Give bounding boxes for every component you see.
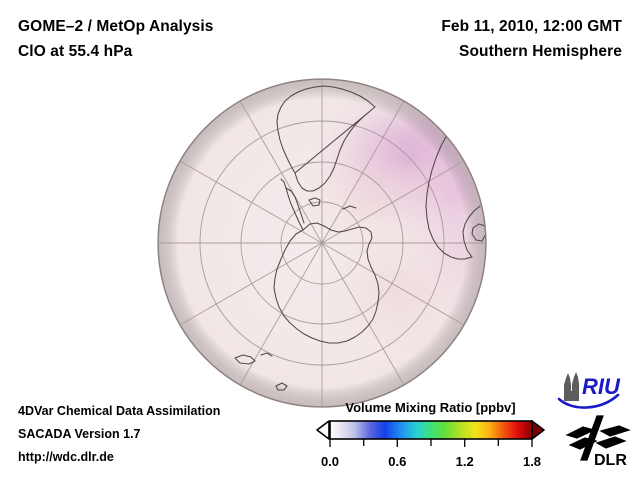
riu-logo: RIU xyxy=(556,371,636,416)
colorbar: Volume Mixing Ratio [ppbv] xyxy=(313,400,548,474)
software-version-label: SACADA Version 1.7 xyxy=(18,423,220,446)
colorbar-tick-label-min: 0.0 xyxy=(321,454,339,469)
header-right: Feb 11, 2010, 12:00 GMT Southern Hemisph… xyxy=(441,14,622,64)
riu-cathedral-icon xyxy=(564,372,579,401)
colorbar-tick-label-max: 1.8 xyxy=(523,454,541,469)
colorbar-min-arrow xyxy=(317,421,329,439)
colorbar-ticks xyxy=(330,439,532,447)
globe-map xyxy=(157,78,487,408)
dlr-wordmark: DLR xyxy=(594,452,627,469)
website-url-label: http://wdc.dlr.de xyxy=(18,446,220,469)
species-level-label: ClO at 55.4 hPa xyxy=(18,39,214,64)
colorbar-tick-label-1: 0.6 xyxy=(388,454,406,469)
colorbar-tick-labels: 0.0 0.6 1.2 1.8 xyxy=(313,454,548,474)
colorbar-gradient xyxy=(330,421,532,439)
assimilation-method-label: 4DVar Chemical Data Assimilation xyxy=(18,400,220,423)
colorbar-title: Volume Mixing Ratio [ppbv] xyxy=(313,400,548,415)
dlr-logo: DLR xyxy=(563,414,637,479)
riu-wordmark: RIU xyxy=(582,374,621,399)
header-left: GOME–2 / MetOp Analysis ClO at 55.4 hPa xyxy=(18,14,214,64)
footer-text: 4DVar Chemical Data Assimilation SACADA … xyxy=(18,400,220,469)
colorbar-tick-label-2: 1.2 xyxy=(456,454,474,469)
datetime-label: Feb 11, 2010, 12:00 GMT xyxy=(441,14,622,39)
instrument-title: GOME–2 / MetOp Analysis xyxy=(18,14,214,39)
colorbar-scale xyxy=(313,419,548,453)
colorbar-max-arrow xyxy=(532,421,544,439)
region-label: Southern Hemisphere xyxy=(441,39,622,64)
